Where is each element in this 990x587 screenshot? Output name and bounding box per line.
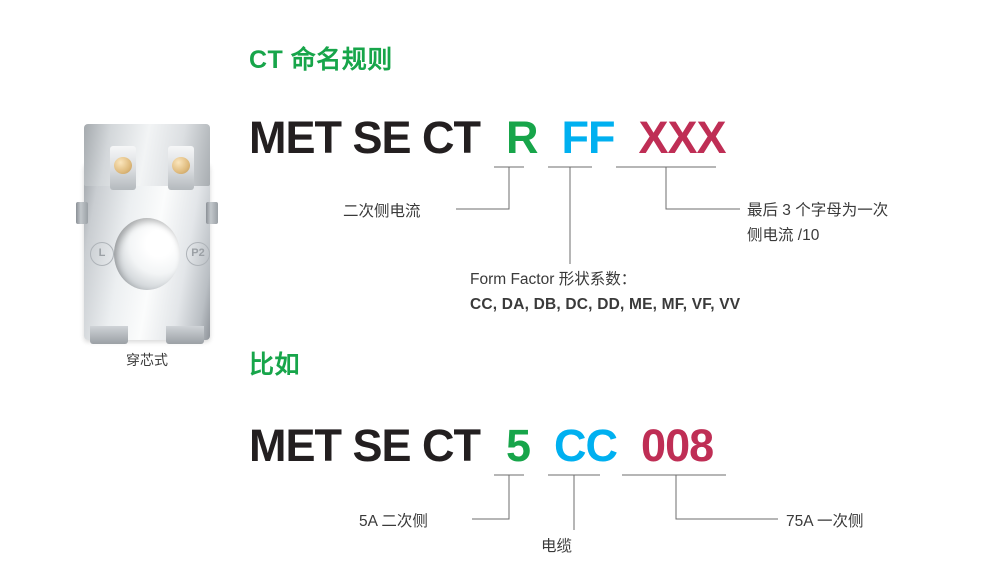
annotation-primary-line-1: 最后 3 个字母为一次 — [747, 198, 927, 223]
ct-foot-right — [166, 326, 204, 344]
ct-naming-rule-infographic: CT 命名规则 L P2 穿芯式 MET SE CTRFFXXX 比如 MET … — [0, 0, 990, 587]
page-title: CT 命名规则 — [249, 40, 393, 76]
code-example: MET SE CT5CC008 — [249, 420, 713, 472]
annotation-form-factor-label: Form Factor 形状系数： — [470, 267, 740, 292]
current-transformer-image: L P2 — [70, 110, 222, 342]
leader-main-primary-path — [666, 167, 740, 209]
leader-main-secondary-path — [456, 167, 509, 209]
code-main-prefix: MET SE CT — [249, 112, 480, 164]
annotation-primary-line-2: 侧电流 /10 — [747, 223, 927, 248]
code-example-prefix: MET SE CT — [249, 420, 480, 472]
code-main: MET SE CTRFFXXX — [249, 112, 726, 164]
annotation-form-factor-values: CC, DA, DB, DC, DD, ME, MF, VF, VV — [470, 292, 740, 317]
product-figure: L P2 穿芯式 — [52, 108, 242, 393]
code-example-primary: 008 — [641, 420, 713, 472]
ct-marking-left: L — [90, 242, 114, 266]
annotation-example-secondary: 5A 二次侧 — [359, 509, 428, 534]
example-title: 比如 — [249, 345, 300, 381]
annotation-primary-current: 最后 3 个字母为一次 侧电流 /10 — [747, 198, 927, 248]
ct-foot-left — [90, 326, 128, 344]
ct-rail-left — [76, 202, 88, 224]
ct-through-hole — [114, 218, 180, 290]
ct-rail-right — [206, 202, 218, 224]
annotation-example-cable: 电缆 — [541, 534, 572, 559]
leader-example-secondary-path — [472, 475, 509, 519]
ct-marking-right: P2 — [186, 242, 210, 266]
annotation-form-factor: Form Factor 形状系数： CC, DA, DB, DC, DD, ME… — [470, 267, 740, 317]
ct-terminal-screw-p1 — [110, 146, 136, 190]
code-example-form-factor: CC — [554, 420, 617, 472]
ct-terminal-screw-p2 — [168, 146, 194, 190]
leader-example-primary-path — [676, 475, 778, 519]
annotation-secondary-current: 二次侧电流 — [343, 199, 421, 224]
code-main-secondary: R — [506, 112, 538, 164]
ct-terminal-block — [84, 124, 210, 186]
product-caption: 穿芯式 — [52, 350, 242, 370]
annotation-example-primary: 75A 一次侧 — [786, 509, 864, 534]
code-main-form-factor: FF — [562, 112, 615, 164]
code-main-primary: XXX — [639, 112, 726, 164]
code-example-secondary: 5 — [506, 420, 530, 472]
